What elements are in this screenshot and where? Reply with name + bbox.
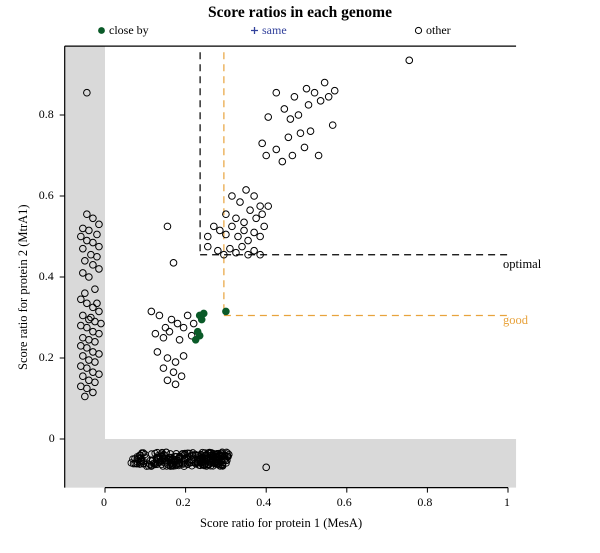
- data-point: [331, 87, 338, 94]
- data-point: [178, 373, 185, 380]
- data-point: [190, 320, 197, 327]
- data-point: [211, 223, 218, 230]
- data-point: [166, 328, 173, 335]
- data-point: [257, 233, 264, 240]
- data-point: [168, 316, 175, 323]
- data-point: [148, 308, 155, 315]
- data-point: [251, 229, 258, 236]
- y-tick-label: 0.2: [39, 350, 54, 365]
- data-point: [265, 114, 272, 121]
- data-point: [192, 336, 199, 343]
- data-point: [223, 308, 230, 315]
- data-point: [279, 158, 286, 165]
- data-point: [164, 377, 171, 384]
- data-point: [253, 215, 260, 222]
- data-point: [229, 223, 236, 230]
- data-point: [325, 93, 332, 100]
- scatter-plot-figure: Score ratios in each genome close by sam…: [0, 0, 600, 553]
- data-point: [265, 203, 272, 210]
- y-tick-label: 0.8: [39, 107, 54, 122]
- x-axis-label: Score ratio for protein 1 (MesA): [200, 516, 362, 531]
- data-point: [180, 353, 187, 360]
- x-tick-label: 0: [101, 495, 107, 510]
- data-point: [259, 211, 266, 218]
- data-point: [233, 215, 240, 222]
- shaded-region: [65, 439, 516, 488]
- y-axis-label: Score ratio for protein 2 (MtrA1): [16, 204, 31, 370]
- data-point: [273, 146, 280, 153]
- data-point: [174, 320, 181, 327]
- data-point: [317, 98, 324, 105]
- data-point: [311, 89, 318, 96]
- data-point: [156, 312, 163, 319]
- data-point: [303, 85, 310, 92]
- data-point: [321, 79, 328, 86]
- data-point: [204, 243, 211, 250]
- data-point: [315, 152, 322, 159]
- data-point: [237, 199, 244, 206]
- data-point: [164, 223, 171, 230]
- x-tick-label: 1: [504, 495, 510, 510]
- data-point: [305, 102, 312, 109]
- y-tick-label: 0.6: [39, 188, 54, 203]
- data-point: [251, 247, 258, 254]
- data-point: [170, 260, 177, 267]
- data-point: [301, 144, 308, 151]
- data-point: [239, 243, 246, 250]
- data-point: [257, 203, 264, 210]
- data-point: [200, 310, 207, 317]
- data-point: [251, 193, 258, 200]
- data-point: [295, 112, 302, 119]
- x-tick-label: 0.6: [337, 495, 352, 510]
- data-point: [217, 227, 224, 234]
- plot-canvas: [0, 0, 600, 553]
- data-point: [289, 152, 296, 159]
- data-point: [172, 381, 179, 388]
- data-point: [160, 334, 167, 341]
- x-tick-label: 0.8: [417, 495, 432, 510]
- data-point: [184, 312, 191, 319]
- x-tick-label: 0.4: [256, 495, 271, 510]
- data-point: [243, 187, 250, 194]
- data-point: [329, 122, 336, 129]
- data-point: [259, 140, 266, 147]
- data-point: [245, 237, 252, 244]
- data-point: [241, 219, 248, 226]
- data-point: [263, 152, 270, 159]
- data-point: [261, 223, 268, 230]
- data-point: [162, 324, 169, 331]
- data-point: [307, 128, 314, 135]
- data-point: [160, 365, 167, 372]
- data-point: [215, 247, 222, 254]
- x-tick-label: 0.2: [176, 495, 191, 510]
- annotation-good: good: [503, 313, 528, 328]
- data-point: [227, 245, 234, 252]
- data-point: [241, 227, 248, 234]
- data-point: [291, 93, 298, 100]
- data-point: [152, 330, 159, 337]
- data-point: [281, 106, 288, 113]
- data-point: [154, 349, 161, 356]
- data-point: [273, 89, 280, 96]
- data-point: [172, 359, 179, 366]
- y-tick-label: 0.4: [39, 269, 54, 284]
- data-point: [287, 116, 294, 123]
- annotation-optimal: optimal: [503, 257, 541, 272]
- data-point: [233, 249, 240, 256]
- data-point: [176, 336, 183, 343]
- data-point: [235, 233, 242, 240]
- shaded-region: [65, 46, 105, 487]
- data-point: [164, 355, 171, 362]
- data-point: [229, 193, 236, 200]
- data-point: [406, 57, 413, 64]
- data-point: [297, 130, 304, 137]
- y-tick-label: 0: [49, 431, 55, 446]
- data-point: [170, 369, 177, 376]
- data-point: [247, 207, 254, 214]
- data-point: [180, 324, 187, 331]
- data-point: [285, 134, 292, 141]
- data-point: [204, 233, 211, 240]
